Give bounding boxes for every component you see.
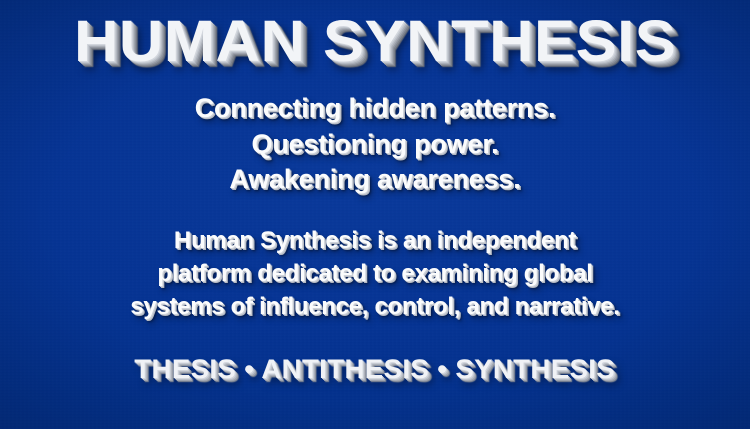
tagline-line-1: Connecting hidden patterns.	[195, 91, 556, 127]
motto-tagline: THESIS • ANTITHESIS • SYNTHESIS	[135, 354, 616, 385]
banner-container: HUMAN SYNTHESIS Connecting hidden patter…	[0, 0, 750, 429]
banner-content: HUMAN SYNTHESIS Connecting hidden patter…	[0, 0, 750, 385]
description-line-2: platform dedicated to examining global	[130, 257, 619, 290]
description-paragraph: Human Synthesis is an independent platfo…	[130, 224, 619, 323]
tagline-block: Connecting hidden patterns. Questioning …	[195, 91, 556, 198]
tagline-line-3: Awakening awareness.	[195, 162, 556, 198]
description-line-3: systems of influence, control, and narra…	[130, 290, 619, 323]
tagline-line-2: Questioning power.	[195, 127, 556, 163]
description-line-1: Human Synthesis is an independent	[130, 224, 619, 257]
page-title: HUMAN SYNTHESIS	[74, 13, 676, 71]
